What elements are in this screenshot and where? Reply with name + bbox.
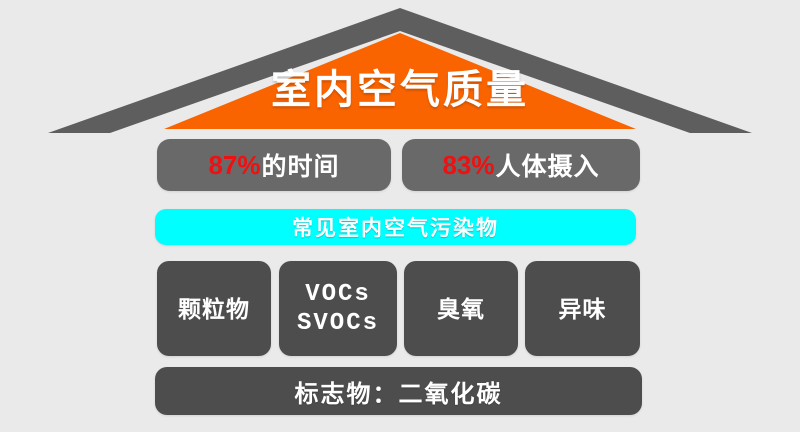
footer-label: 标志物：二氧化碳 (295, 374, 503, 409)
pollutant-label-1-line2: SVOCs (297, 309, 379, 338)
pollutant-card-vocs[interactable]: VOCs SVOCs (279, 261, 397, 356)
stat-card-body-intake[interactable]: 83%人体摄入 (402, 139, 640, 191)
roof-graphic: 室内空气质量 (0, 0, 800, 140)
footer-marker-co2[interactable]: 标志物：二氧化碳 (155, 367, 642, 415)
pollutant-label-2: 臭氧 (437, 295, 485, 323)
pollutant-label-1-line1: VOCs (297, 280, 379, 309)
pollutant-card-ozone[interactable]: 臭氧 (404, 261, 518, 356)
banner-label: 常见室内空气污染物 (292, 212, 499, 242)
pollutant-label-3: 异味 (559, 295, 607, 323)
stat-label-1: 人体摄入 (496, 147, 600, 183)
stat-percent-1: 83% (442, 150, 494, 181)
banner-common-indoor-pollutants[interactable]: 常见室内空气污染物 (155, 209, 636, 245)
stat-label-0: 的时间 (262, 147, 340, 183)
pollutant-card-odor[interactable]: 异味 (525, 261, 640, 356)
page-title: 室内空气质量 (0, 68, 800, 112)
stat-percent-0: 87% (208, 150, 260, 181)
stat-card-time-indoors[interactable]: 87%的时间 (157, 139, 391, 191)
pollutant-card-particulates[interactable]: 颗粒物 (157, 261, 271, 356)
pollutant-label-0: 颗粒物 (178, 295, 250, 323)
infographic-canvas: 室内空气质量 87%的时间 83%人体摄入 常见室内空气污染物 颗粒物 VOCs… (0, 0, 800, 432)
